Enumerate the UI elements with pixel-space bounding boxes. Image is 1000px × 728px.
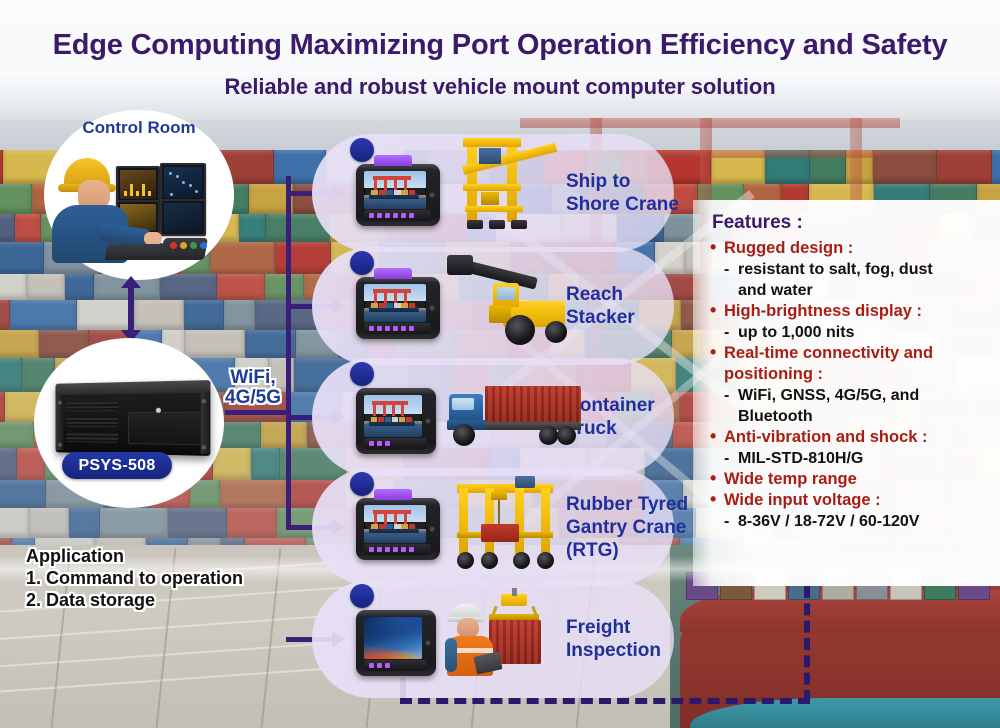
device-led [369, 326, 374, 331]
device-wallpaper [364, 617, 422, 659]
chart-bar [142, 184, 145, 196]
container-box [937, 150, 992, 184]
container-box [0, 448, 17, 480]
container-box [0, 508, 29, 538]
rugged-tablet-device [356, 277, 440, 339]
monitor-screen [120, 170, 156, 199]
server-model-badge: PSYS-508 [62, 452, 172, 479]
device-led [385, 441, 390, 446]
crane-bogie [511, 220, 527, 229]
monitor-screen [164, 203, 202, 232]
feature-sub-item: WiFi, GNSS, 4G/5G, and [708, 385, 1000, 406]
device-screen [364, 284, 426, 322]
network-node [195, 190, 198, 193]
container-box [168, 508, 227, 538]
container-box [0, 422, 34, 448]
container-box [210, 242, 275, 274]
container-box [0, 274, 27, 300]
features-title: Features : [712, 212, 803, 234]
monitor-screen [164, 167, 202, 198]
crane-bogie [467, 220, 483, 229]
screen-crane-beam [373, 289, 411, 293]
screen-container [394, 303, 401, 308]
page-title: Edge Computing Maximizing Port Operation… [0, 29, 1000, 62]
inspector-arm [445, 638, 457, 672]
container-box [265, 274, 304, 300]
crane-machinery-house [479, 148, 501, 164]
crane-spreader [481, 192, 499, 205]
screen-container [385, 417, 391, 422]
network-node [176, 175, 179, 178]
container-box [185, 330, 245, 358]
vehicle-label: ReachStacker [566, 283, 635, 329]
truck-wheel [539, 426, 558, 445]
vehicle-label-line: Gantry Crane [566, 516, 688, 539]
application-item-1: 1. Command to operation [26, 567, 243, 589]
control-monitor [160, 199, 206, 236]
screen-container [394, 190, 401, 195]
console-knob [190, 242, 197, 249]
container-box [0, 358, 22, 392]
feature-sub-item-continued: Bluetooth [708, 406, 1000, 427]
device-led [377, 326, 382, 331]
device-screen [364, 171, 426, 209]
screen-container [379, 303, 386, 308]
return-path-dashed [400, 698, 810, 704]
device-led [369, 547, 374, 552]
device-screen [364, 505, 426, 543]
ship-to-shore-crane-art [455, 136, 565, 248]
feature-item: Rugged design : [708, 238, 1000, 259]
rtg-lifted-container [481, 524, 519, 542]
truck-wheel [557, 426, 576, 445]
device-indicator-bar [364, 438, 427, 449]
feature-item-continued: positioning : [708, 364, 1000, 385]
console-knob [200, 242, 207, 249]
connector-trunk-line [286, 176, 291, 526]
device-screen [364, 617, 422, 659]
screen-sea [364, 532, 426, 543]
device-led [377, 213, 382, 218]
vehicle-label: FreightInspection [566, 616, 661, 662]
crane-top-beam [463, 138, 521, 147]
device-led [401, 213, 406, 218]
screen-sea [364, 424, 422, 437]
server-screw [58, 443, 62, 447]
rtg-wheel [457, 552, 474, 569]
server-vent [66, 402, 118, 411]
screen-sea [364, 198, 426, 209]
rtg-wheel [513, 552, 530, 569]
screen-container [401, 190, 408, 195]
server-power-led [156, 408, 161, 413]
reach-stacker-art [445, 255, 575, 355]
series-badge[interactable] [350, 362, 374, 386]
container-box [15, 214, 41, 242]
device-camera [429, 305, 435, 311]
device-indicator-bar [364, 210, 431, 221]
control-monitor [160, 163, 206, 202]
rtg-trolley [491, 492, 507, 500]
container-box [65, 274, 94, 300]
screen-crane-beam [373, 176, 411, 180]
return-path-right-riser [804, 586, 810, 702]
container-box [0, 184, 32, 214]
screen-container [371, 303, 378, 308]
rack-server-chassis [55, 380, 210, 456]
container-box [275, 242, 331, 274]
screen-crane-beam [372, 401, 408, 405]
network-node [170, 193, 173, 196]
device-led [385, 547, 390, 552]
uplink-arrow-shaft [128, 284, 134, 334]
infographic-canvas: Edge Computing Maximizing Port Operation… [0, 0, 1000, 728]
screen-container [409, 190, 416, 195]
feature-item: Wide input voltage : [708, 490, 1000, 511]
device-camera [425, 418, 431, 424]
rtg-crane-art [451, 476, 561, 578]
screen-container [371, 190, 378, 195]
page-subtitle: Reliable and robust vehicle mount comput… [0, 74, 1000, 100]
device-indicator-bar [364, 660, 427, 671]
device-led [385, 326, 390, 331]
rugged-tablet-device [356, 610, 436, 676]
device-led [377, 663, 382, 668]
screen-crane-beam [373, 510, 411, 514]
series-badge[interactable] [350, 584, 374, 608]
container-box [873, 150, 937, 184]
device-led [369, 213, 374, 218]
rugged-tablet-device [356, 388, 436, 454]
device-led [385, 213, 390, 218]
container-box [10, 300, 77, 330]
container-box [224, 300, 255, 330]
stacker-wheel [505, 315, 535, 345]
series-badge[interactable] [350, 472, 374, 496]
inspector-tablet [473, 651, 502, 674]
container-box [0, 300, 10, 330]
console-knob [170, 242, 177, 249]
device-led [393, 547, 398, 552]
rtg-wheel [481, 552, 498, 569]
application-heading: Application [26, 545, 243, 567]
device-camera [425, 640, 431, 646]
control-room-label: Control Room [44, 118, 234, 138]
feature-sub-item: resistant to salt, fog, dust [708, 259, 1000, 280]
rtg-leg [515, 488, 524, 554]
inspection-hoist-cable [512, 588, 517, 596]
rugged-tablet-device [356, 164, 440, 226]
feature-sub-item: MIL-STD-810H/G [708, 448, 1000, 469]
series-badge[interactable] [350, 251, 374, 275]
container-box [239, 214, 266, 242]
container-box [992, 150, 1000, 184]
container-box [100, 508, 168, 538]
rugged-tablet-device [356, 498, 440, 560]
connectivity-label-line2: 4G/5G [205, 388, 301, 408]
feature-item: Real-time connectivity and [708, 343, 1000, 364]
crane-sill-beam [465, 206, 523, 212]
vehicle-label-line: Freight [566, 616, 661, 639]
device-led [409, 547, 414, 552]
vehicle-label-line: Rubber Tyred [566, 493, 688, 516]
vehicle-label-line: (RTG) [566, 539, 688, 562]
rtg-wheel [537, 552, 554, 569]
screen-container [394, 524, 401, 529]
device-led [377, 441, 382, 446]
container-truck-art [443, 384, 583, 454]
screen-container [409, 303, 416, 308]
screen-container [386, 524, 393, 529]
screen-container [379, 190, 386, 195]
stacker-cab-window [497, 287, 515, 300]
device-mount-nub [374, 155, 412, 166]
server-screw [202, 445, 206, 449]
container-box [0, 242, 44, 274]
feature-item: Wide temp range [708, 469, 1000, 490]
chart-bar [148, 191, 151, 196]
device-led [409, 326, 414, 331]
container-box [0, 330, 39, 358]
device-led [377, 547, 382, 552]
stacker-wheel [545, 321, 567, 343]
screen-container [379, 524, 386, 529]
screen-container [409, 524, 416, 529]
container-box [160, 274, 217, 300]
vehicle-label-line: Inspection [566, 639, 661, 662]
inspector-face [457, 618, 479, 638]
device-indicator-bar [364, 544, 431, 555]
screen-sea [364, 311, 426, 322]
server-vent [66, 433, 118, 442]
device-mount-nub [374, 489, 412, 500]
vehicle-label-line: Stacker [566, 306, 635, 329]
connectivity-label: WiFi, 4G/5G [205, 368, 301, 408]
container-box [184, 300, 224, 330]
console-knob [180, 242, 187, 249]
screen-container [401, 303, 408, 308]
network-node [189, 184, 192, 187]
container-box [227, 508, 277, 538]
server-top-panel [55, 380, 210, 395]
network-node [169, 172, 172, 175]
screen-container [371, 524, 378, 529]
container-box [217, 274, 265, 300]
device-led [369, 663, 374, 668]
rtg-leg [541, 488, 550, 554]
vehicle-label: Ship toShore Crane [566, 170, 679, 216]
feature-item: Anti-vibration and shock : [708, 427, 1000, 448]
chart-bar [130, 184, 133, 196]
device-camera [429, 526, 435, 532]
screen-container [392, 417, 398, 422]
device-indicator-bar [364, 323, 431, 334]
container-box [213, 448, 251, 480]
device-camera [429, 192, 435, 198]
feature-sub-item-continued: and water [708, 280, 1000, 301]
screen-container [378, 417, 384, 422]
rtg-hoist-cable [498, 500, 500, 524]
container-box [77, 300, 135, 330]
application-item-2: 2. Data storage [26, 589, 243, 611]
server-vent [66, 418, 118, 427]
feature-item: High-brightness display : [708, 301, 1000, 322]
screen-container [371, 417, 377, 422]
vehicle-label-line: Shore Crane [566, 193, 679, 216]
features-list: Rugged design :resistant to salt, fog, d… [708, 238, 1000, 532]
screen-container [401, 524, 408, 529]
container-box [261, 422, 307, 448]
container-box [0, 214, 15, 242]
network-node [182, 181, 185, 184]
chart-bar [124, 191, 127, 196]
vehicle-label: Rubber TyredGantry Crane(RTG) [566, 493, 688, 562]
stacker-spreader [447, 255, 473, 275]
device-screen [364, 395, 422, 437]
connectivity-label-line1: WiFi, [205, 368, 301, 388]
rtg-machinery-house [515, 476, 535, 488]
truck-windshield [452, 398, 474, 410]
series-badge[interactable] [350, 138, 374, 162]
device-led [393, 213, 398, 218]
feature-sub-item: up to 1,000 nits [708, 322, 1000, 343]
container-box [69, 508, 100, 538]
container-box [0, 480, 46, 508]
rtg-leg [459, 488, 468, 554]
device-led [385, 663, 390, 668]
container-box [135, 300, 184, 330]
device-led [369, 441, 374, 446]
screen-container [386, 190, 393, 195]
device-led [401, 547, 406, 552]
screen-container [399, 417, 405, 422]
screen-container [406, 417, 412, 422]
truck-wheel [453, 424, 475, 446]
screen-container [386, 303, 393, 308]
crane-cross-beam [463, 184, 521, 191]
server-screw [58, 401, 62, 405]
feature-sub-item: 8-36V / 18-72V / 60-120V [708, 511, 1000, 532]
vehicle-label-line: Reach [566, 283, 635, 306]
chart-bar [136, 191, 139, 196]
device-led [401, 326, 406, 331]
container-corrugation [485, 386, 581, 422]
container-box [251, 448, 280, 480]
control-monitor [116, 166, 160, 203]
connector-stub-from-server [225, 410, 289, 415]
device-led [393, 326, 398, 331]
crane-bogie [489, 220, 505, 229]
device-mount-nub [374, 268, 412, 279]
application-block: Application 1. Command to operation 2. D… [26, 545, 243, 611]
container-box [220, 480, 287, 508]
vehicle-label-line: Ship to [566, 170, 679, 193]
server-front-panel [128, 412, 202, 446]
freight-inspection-art [445, 592, 575, 688]
device-led [409, 213, 414, 218]
container-box [29, 508, 69, 538]
container-box [27, 274, 65, 300]
